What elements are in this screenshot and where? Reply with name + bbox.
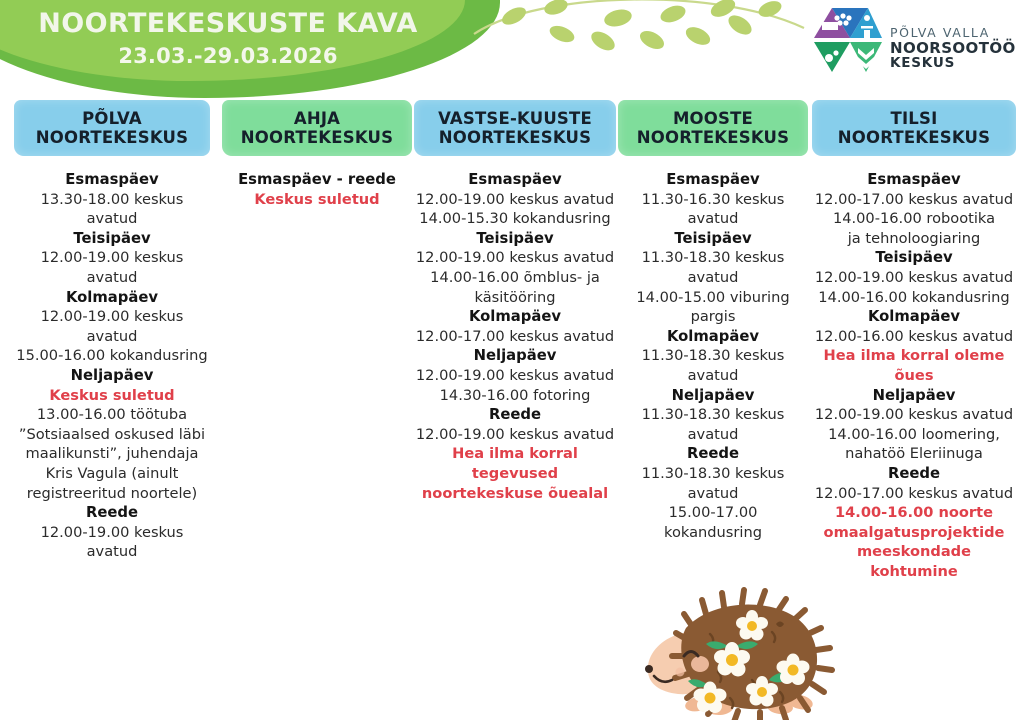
schedule-entry: 14.00-15.00 viburing pargis: [618, 288, 808, 327]
polva-valla-logo-icon: [812, 6, 884, 76]
schedule-entry: 12.00-19.00 keskus avatud: [812, 405, 1016, 425]
schedule-entry: 15.00-17.00 kokandusring: [618, 503, 808, 542]
column-header-label-2: NOORTEKESKUS: [438, 128, 592, 147]
schedule-entry: 12.00-19.00 keskus avatud: [14, 248, 210, 287]
logo-line-1: PÕLVA VALLA: [890, 26, 1016, 40]
schedule-entry: 15.00-16.00 kokandusring: [14, 346, 210, 366]
logo-wordmark: PÕLVA VALLA NOORSOOTÖÖ KESKUS: [890, 26, 1016, 70]
schedule-note-highlight: omaalgatusprojektide: [812, 523, 1016, 543]
schedule-entry: Kris Vagula (ainult: [14, 464, 210, 484]
schedule-day-label: Esmaspäev - reede: [222, 170, 412, 190]
schedule-day-label: Reede: [414, 405, 616, 425]
schedule-entry: 12.00-19.00 keskus avatud: [414, 366, 616, 386]
schedule-day-label: Kolmapäev: [414, 307, 616, 327]
schedule-column: AHJANOORTEKESKUSEsmaspäev - reedeKeskus …: [222, 100, 412, 209]
schedule-entry: 14.00-15.30 kokandusring: [414, 209, 616, 229]
schedule-entry: käsitööring: [414, 288, 616, 308]
schedule-day-label: Teisipäev: [618, 229, 808, 249]
schedule-day-label: Esmaspäev: [14, 170, 210, 190]
schedule-day-label: Esmaspäev: [812, 170, 1016, 190]
schedule-note-highlight: Keskus suletud: [14, 386, 210, 406]
schedule-note-highlight: Keskus suletud: [222, 190, 412, 210]
schedule-entry: 13.00-16.00 töötuba: [14, 405, 210, 425]
hedgehog-mascot-icon: [640, 580, 870, 720]
schedule-entry: 12.00-19.00 keskus avatud: [414, 425, 616, 445]
schedule-day-label: Esmaspäev: [618, 170, 808, 190]
schedule-day-label: Reede: [618, 444, 808, 464]
schedule-entry: 12.00-17.00 keskus avatud: [414, 327, 616, 347]
schedule-day-label: Teisipäev: [812, 248, 1016, 268]
column-header-vastse-kuuste: VASTSE-KUUSTENOORTEKESKUS: [414, 100, 616, 156]
column-schedule-body: Esmaspäev12.00-19.00 keskus avatud14.00-…: [414, 170, 616, 503]
schedule-day-label: Teisipäev: [14, 229, 210, 249]
schedule-day-label: Kolmapäev: [618, 327, 808, 347]
column-header-label: PÕLVANOORTEKESKUS: [36, 109, 188, 148]
organization-logo: PÕLVA VALLA NOORSOOTÖÖ KESKUS: [812, 6, 1018, 90]
column-schedule-body: Esmaspäev - reedeKeskus suletud: [222, 170, 412, 209]
poster-page: NOORTEKESKUSTE KAVA 23.03.-29.03.2026: [0, 0, 1024, 724]
schedule-day-label: Neljapäev: [414, 346, 616, 366]
logo-line-2: NOORSOOTÖÖ: [890, 40, 1016, 56]
schedule-day-label: Esmaspäev: [414, 170, 616, 190]
schedule-column: VASTSE-KUUSTENOORTEKESKUSEsmaspäev12.00-…: [414, 100, 616, 503]
column-schedule-body: Esmaspäev13.30-18.00 keskus avatudTeisip…: [14, 170, 210, 562]
schedule-entry: ”Sotsiaalsed oskused läbi: [14, 425, 210, 445]
logo-line-3: KESKUS: [890, 56, 1016, 71]
schedule-entry: 14.00-16.00 õmblus- ja: [414, 268, 616, 288]
schedule-entry: 12.00-17.00 keskus avatud: [812, 484, 1016, 504]
column-header-p-lva: PÕLVANOORTEKESKUS: [14, 100, 210, 156]
column-header-label: VASTSE-KUUSTENOORTEKESKUS: [438, 109, 592, 148]
schedule-entry: 12.00-17.00 keskus avatud: [812, 190, 1016, 210]
schedule-note-highlight: meeskondade kohtumine: [812, 542, 1016, 581]
schedule-note-highlight: 14.00-16.00 noorte: [812, 503, 1016, 523]
column-header-label-2: NOORTEKESKUS: [36, 128, 188, 147]
schedule-entry: 13.30-18.00 keskus avatud: [14, 190, 210, 229]
column-header-label-2: NOORTEKESKUS: [241, 128, 393, 147]
column-schedule-body: Esmaspäev12.00-17.00 keskus avatud14.00-…: [812, 170, 1016, 581]
schedule-entry: 14.00-16.00 kokandusring: [812, 288, 1016, 308]
column-header-label: TILSINOORTEKESKUS: [838, 109, 990, 148]
column-schedule-body: Esmaspäev11.30-16.30 keskus avatudTeisip…: [618, 170, 808, 542]
schedule-day-label: Neljapäev: [14, 366, 210, 386]
schedule-entry: ja tehnoloogiaring: [812, 229, 1016, 249]
column-header-label: MOOSTENOORTEKESKUS: [637, 109, 789, 148]
column-header-label-2: NOORTEKESKUS: [838, 128, 990, 147]
schedule-column: PÕLVANOORTEKESKUSEsmaspäev13.30-18.00 ke…: [14, 100, 210, 562]
column-header-label-2: NOORTEKESKUS: [637, 128, 789, 147]
schedule-entry: 12.00-19.00 keskus avatud: [14, 523, 210, 562]
schedule-entry: registreeritud noortele): [14, 484, 210, 504]
date-range: 23.03.-29.03.2026: [28, 44, 428, 68]
schedule-entry: 12.00-16.00 keskus avatud: [812, 327, 1016, 347]
schedule-entry: 11.30-18.30 keskus avatud: [618, 346, 808, 385]
schedule-entry: 12.00-19.00 keskus avatud: [812, 268, 1016, 288]
schedule-day-label: Kolmapäev: [14, 288, 210, 308]
schedule-note-highlight: noortekeskuse õuealal: [414, 484, 616, 504]
schedule-entry: 11.30-18.30 keskus avatud: [618, 248, 808, 287]
schedule-entry: 12.00-19.00 keskus avatud: [414, 248, 616, 268]
schedule-entry: 12.00-19.00 keskus avatud: [414, 190, 616, 210]
schedule-day-label: Teisipäev: [414, 229, 616, 249]
column-header-ahja: AHJANOORTEKESKUS: [222, 100, 412, 156]
column-header-mooste: MOOSTENOORTEKESKUS: [618, 100, 808, 156]
column-header-tilsi: TILSINOORTEKESKUS: [812, 100, 1016, 156]
schedule-day-label: Neljapäev: [618, 386, 808, 406]
schedule-note-highlight: Hea ilma korral oleme õues: [812, 346, 1016, 385]
schedule-entry: 11.30-18.30 keskus avatud: [618, 405, 808, 444]
schedule-note-highlight: Hea ilma korral tegevused: [414, 444, 616, 483]
column-header-label: AHJANOORTEKESKUS: [241, 109, 393, 148]
schedule-entry: 11.30-16.30 keskus avatud: [618, 190, 808, 229]
schedule-day-label: Reede: [812, 464, 1016, 484]
page-title: NOORTEKESKUSTE KAVA: [28, 10, 428, 38]
schedule-entry: 14.00-16.00 loomering,: [812, 425, 1016, 445]
schedule-entry: 12.00-19.00 keskus avatud: [14, 307, 210, 346]
leaf-vine-icon: [470, 0, 810, 74]
schedule-column: MOOSTENOORTEKESKUSEsmaspäev11.30-16.30 k…: [618, 100, 808, 542]
schedule-column: TILSINOORTEKESKUSEsmaspäev12.00-17.00 ke…: [812, 100, 1016, 581]
schedule-day-label: Reede: [14, 503, 210, 523]
schedule-entry: 14.30-16.00 fotoring: [414, 386, 616, 406]
schedule-entry: 11.30-18.30 keskus avatud: [618, 464, 808, 503]
schedule-day-label: Neljapäev: [812, 386, 1016, 406]
schedule-day-label: Kolmapäev: [812, 307, 1016, 327]
schedule-entry: nahatöö Eleriinuga: [812, 444, 1016, 464]
schedule-entry: 14.00-16.00 robootika: [812, 209, 1016, 229]
schedule-entry: maalikunsti”, juhendaja: [14, 444, 210, 464]
